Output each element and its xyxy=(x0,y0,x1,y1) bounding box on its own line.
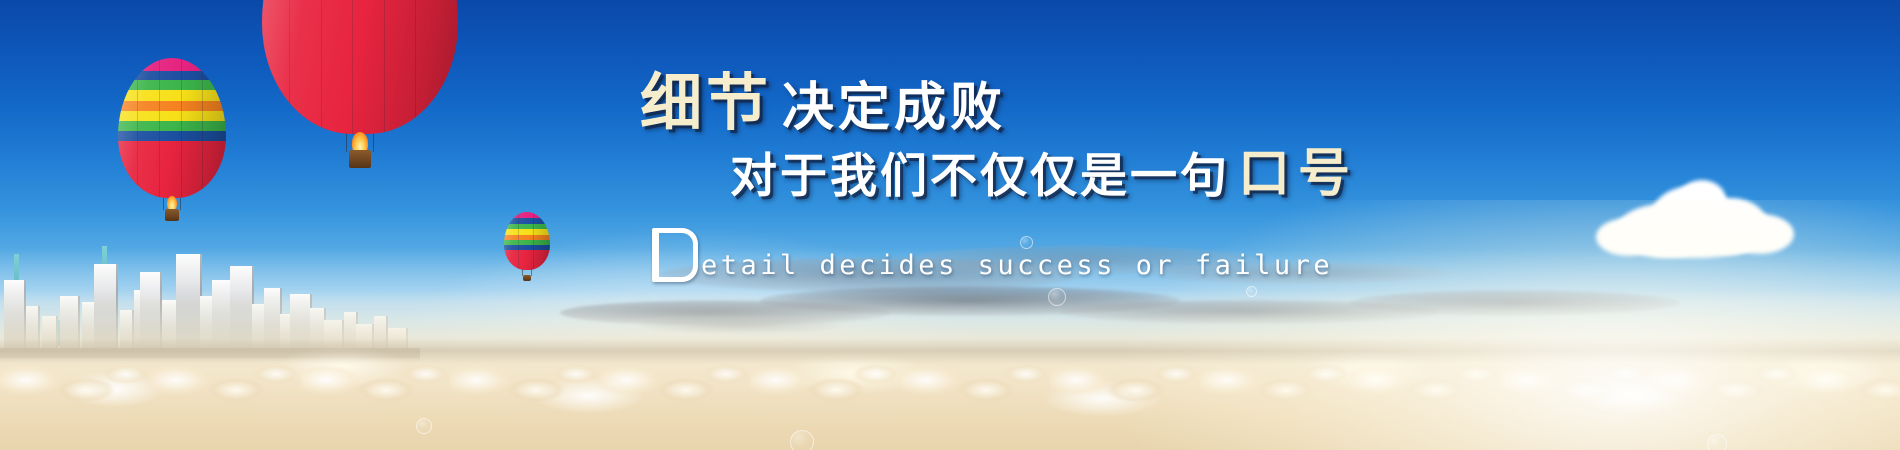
headline-keyword-gold: 细节 xyxy=(640,72,772,134)
headline-line-2-white: 对于我们不仅仅是一句 xyxy=(730,153,1230,200)
headline-line-2-gold: 口号 xyxy=(1238,148,1358,200)
headline-line-2: 对于我们不仅仅是一句口号 xyxy=(730,148,1358,200)
subtitle-english: etail decides success or failure xyxy=(652,228,1333,282)
headline-block: 细节决定成败 对于我们不仅仅是一句口号 etail decides succes… xyxy=(0,0,1900,450)
subtitle-dropcap-d xyxy=(652,228,698,282)
subtitle-text: etail decides success or failure xyxy=(701,252,1333,282)
headline-line-1-white: 决定成败 xyxy=(782,82,1006,134)
headline-line-1: 细节决定成败 xyxy=(640,72,1006,134)
hero-banner: 细节决定成败 对于我们不仅仅是一句口号 etail decides succes… xyxy=(0,0,1900,450)
